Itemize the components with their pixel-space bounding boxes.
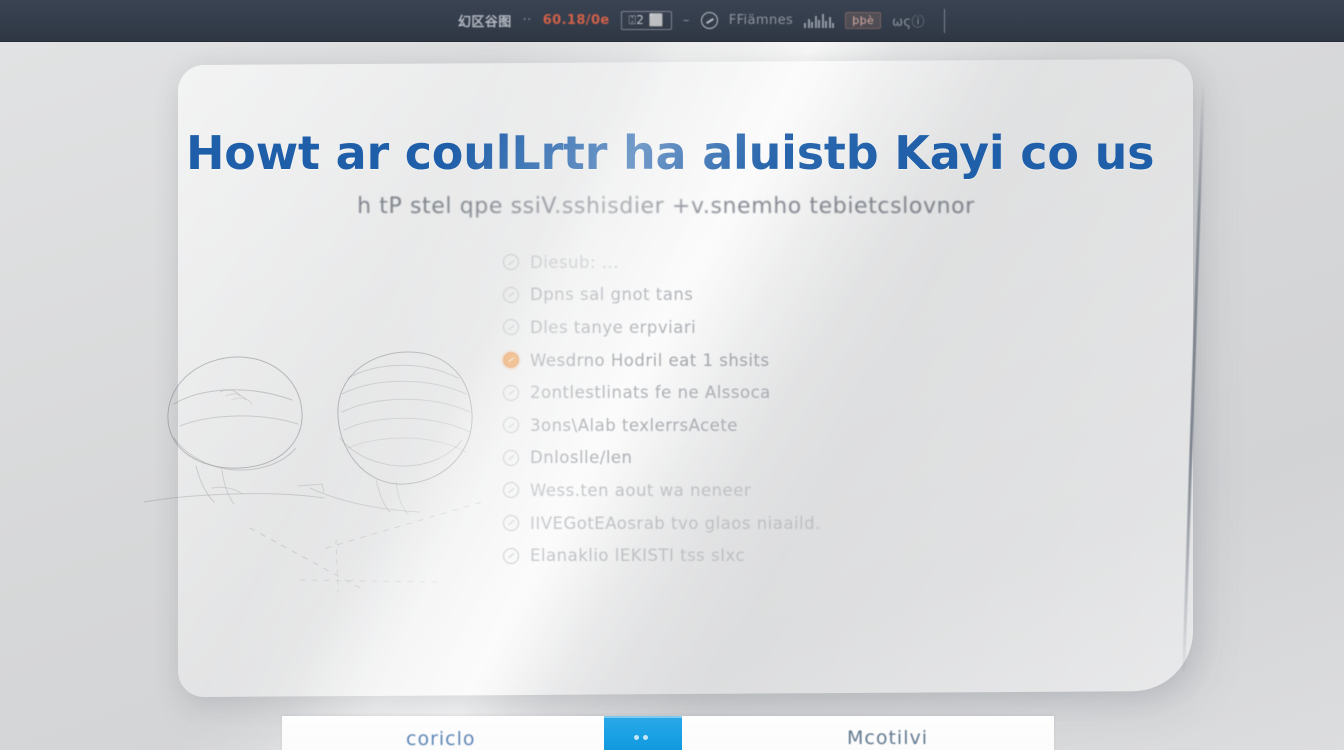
check-circle-icon — [503, 548, 519, 564]
toolbar-dot-marker[interactable]: ·· — [523, 13, 532, 28]
toolbar-framed-value[interactable]: ⍠2 ⬜ — [621, 11, 672, 30]
list-item[interactable]: Dnloslle/len — [503, 442, 923, 475]
toolbar-glyph-cluster[interactable]: 幻区谷图 — [458, 11, 512, 30]
toolbar-chip-label[interactable]: þþè — [845, 12, 881, 29]
feature-checklist: Diesub: ... Dpns sal gnot tans Dles tany… — [503, 246, 923, 572]
list-item-selected[interactable]: Wesdrno Hodril eat 1 shsits — [503, 344, 923, 377]
list-item[interactable]: Wess.ten aout wa neneer — [503, 474, 923, 507]
check-circle-icon — [503, 482, 519, 498]
check-circle-icon — [503, 319, 519, 335]
bottom-left-label[interactable]: coriclo — [406, 728, 476, 750]
bottom-action-bar: coriclo Mcotilvi — [282, 716, 1054, 750]
list-item-label: 3ons\Alab texlerrsAcete — [530, 416, 738, 435]
check-circle-icon — [503, 385, 519, 401]
check-circle-icon — [503, 450, 519, 466]
button-dot-icon — [634, 735, 639, 740]
list-item-label: Wesdrno Hodril eat 1 shsits — [530, 351, 770, 370]
list-item-label: 2ontlestlinats fe ne Alssoca — [530, 383, 771, 402]
list-item-label: Wess.ten aout wa neneer — [530, 481, 751, 500]
page-subtitle: h tP stel qpe ssiV.sshisdier +v.snemho t… — [186, 194, 1146, 219]
bottom-right-label[interactable]: Mcotilvi — [847, 727, 928, 749]
check-circle-active-icon — [503, 352, 519, 368]
list-item[interactable]: Dpns sal gnot tans — [503, 279, 923, 312]
list-item[interactable]: Diesub: ... — [503, 246, 923, 279]
app-window: 幻区谷图 ·· 60.18/0e ⍠2 ⬜ – FFiämnes þþè ωςⓘ… — [0, 0, 1344, 750]
toolbar-frame-label[interactable]: FFiämnes — [729, 13, 793, 28]
list-item-label: Dpns sal gnot tans — [530, 285, 693, 304]
toolbar-items: 幻区谷图 ·· 60.18/0e ⍠2 ⬜ – FFiämnes þþè ωςⓘ — [458, 9, 945, 33]
list-item-label: IIVEGotEAosrab tvo glaos niaaild. — [530, 514, 821, 533]
list-item[interactable]: 2ontlestlinats fe ne Alssoca — [503, 376, 923, 409]
toolbar-dash-icon: – — [683, 13, 690, 28]
check-circle-icon — [503, 515, 519, 531]
toolbar-tail-glyph[interactable]: ωςⓘ — [892, 11, 925, 30]
bar-meter-icon — [804, 13, 834, 28]
list-item-label: Elanaklio lEKISTI tss sIxc — [530, 546, 745, 565]
toolbar-badge-circle-icon[interactable] — [701, 12, 718, 29]
check-circle-icon — [503, 287, 519, 303]
toolbar-accent-label[interactable]: 60.18/0e — [543, 13, 610, 28]
list-item-label: Diesub: ... — [530, 253, 619, 272]
list-item[interactable]: IIVEGotEAosrab tvo glaos niaaild. — [503, 507, 923, 540]
primary-action-button[interactable] — [604, 716, 682, 750]
check-circle-icon — [503, 417, 519, 433]
list-item-label: Dles tanye erpviari — [530, 318, 696, 337]
check-circle-icon — [503, 254, 519, 270]
list-item[interactable]: Elanaklio lEKISTI tss sIxc — [503, 539, 923, 572]
page-title: Howt ar coulLrtr ha aluistb Kayi co us — [186, 126, 1146, 180]
list-item[interactable]: Dles tanye erpviari — [503, 311, 923, 344]
list-item-label: Dnloslle/len — [530, 448, 633, 467]
list-item[interactable]: 3ons\Alab texlerrsAcete — [503, 409, 923, 442]
toolbar-separator — [944, 9, 945, 33]
button-dot-icon — [643, 735, 648, 740]
card-right-edge — [1182, 81, 1205, 671]
top-toolbar: 幻区谷图 ·· 60.18/0e ⍠2 ⬜ – FFiämnes þþè ωςⓘ — [0, 0, 1344, 42]
